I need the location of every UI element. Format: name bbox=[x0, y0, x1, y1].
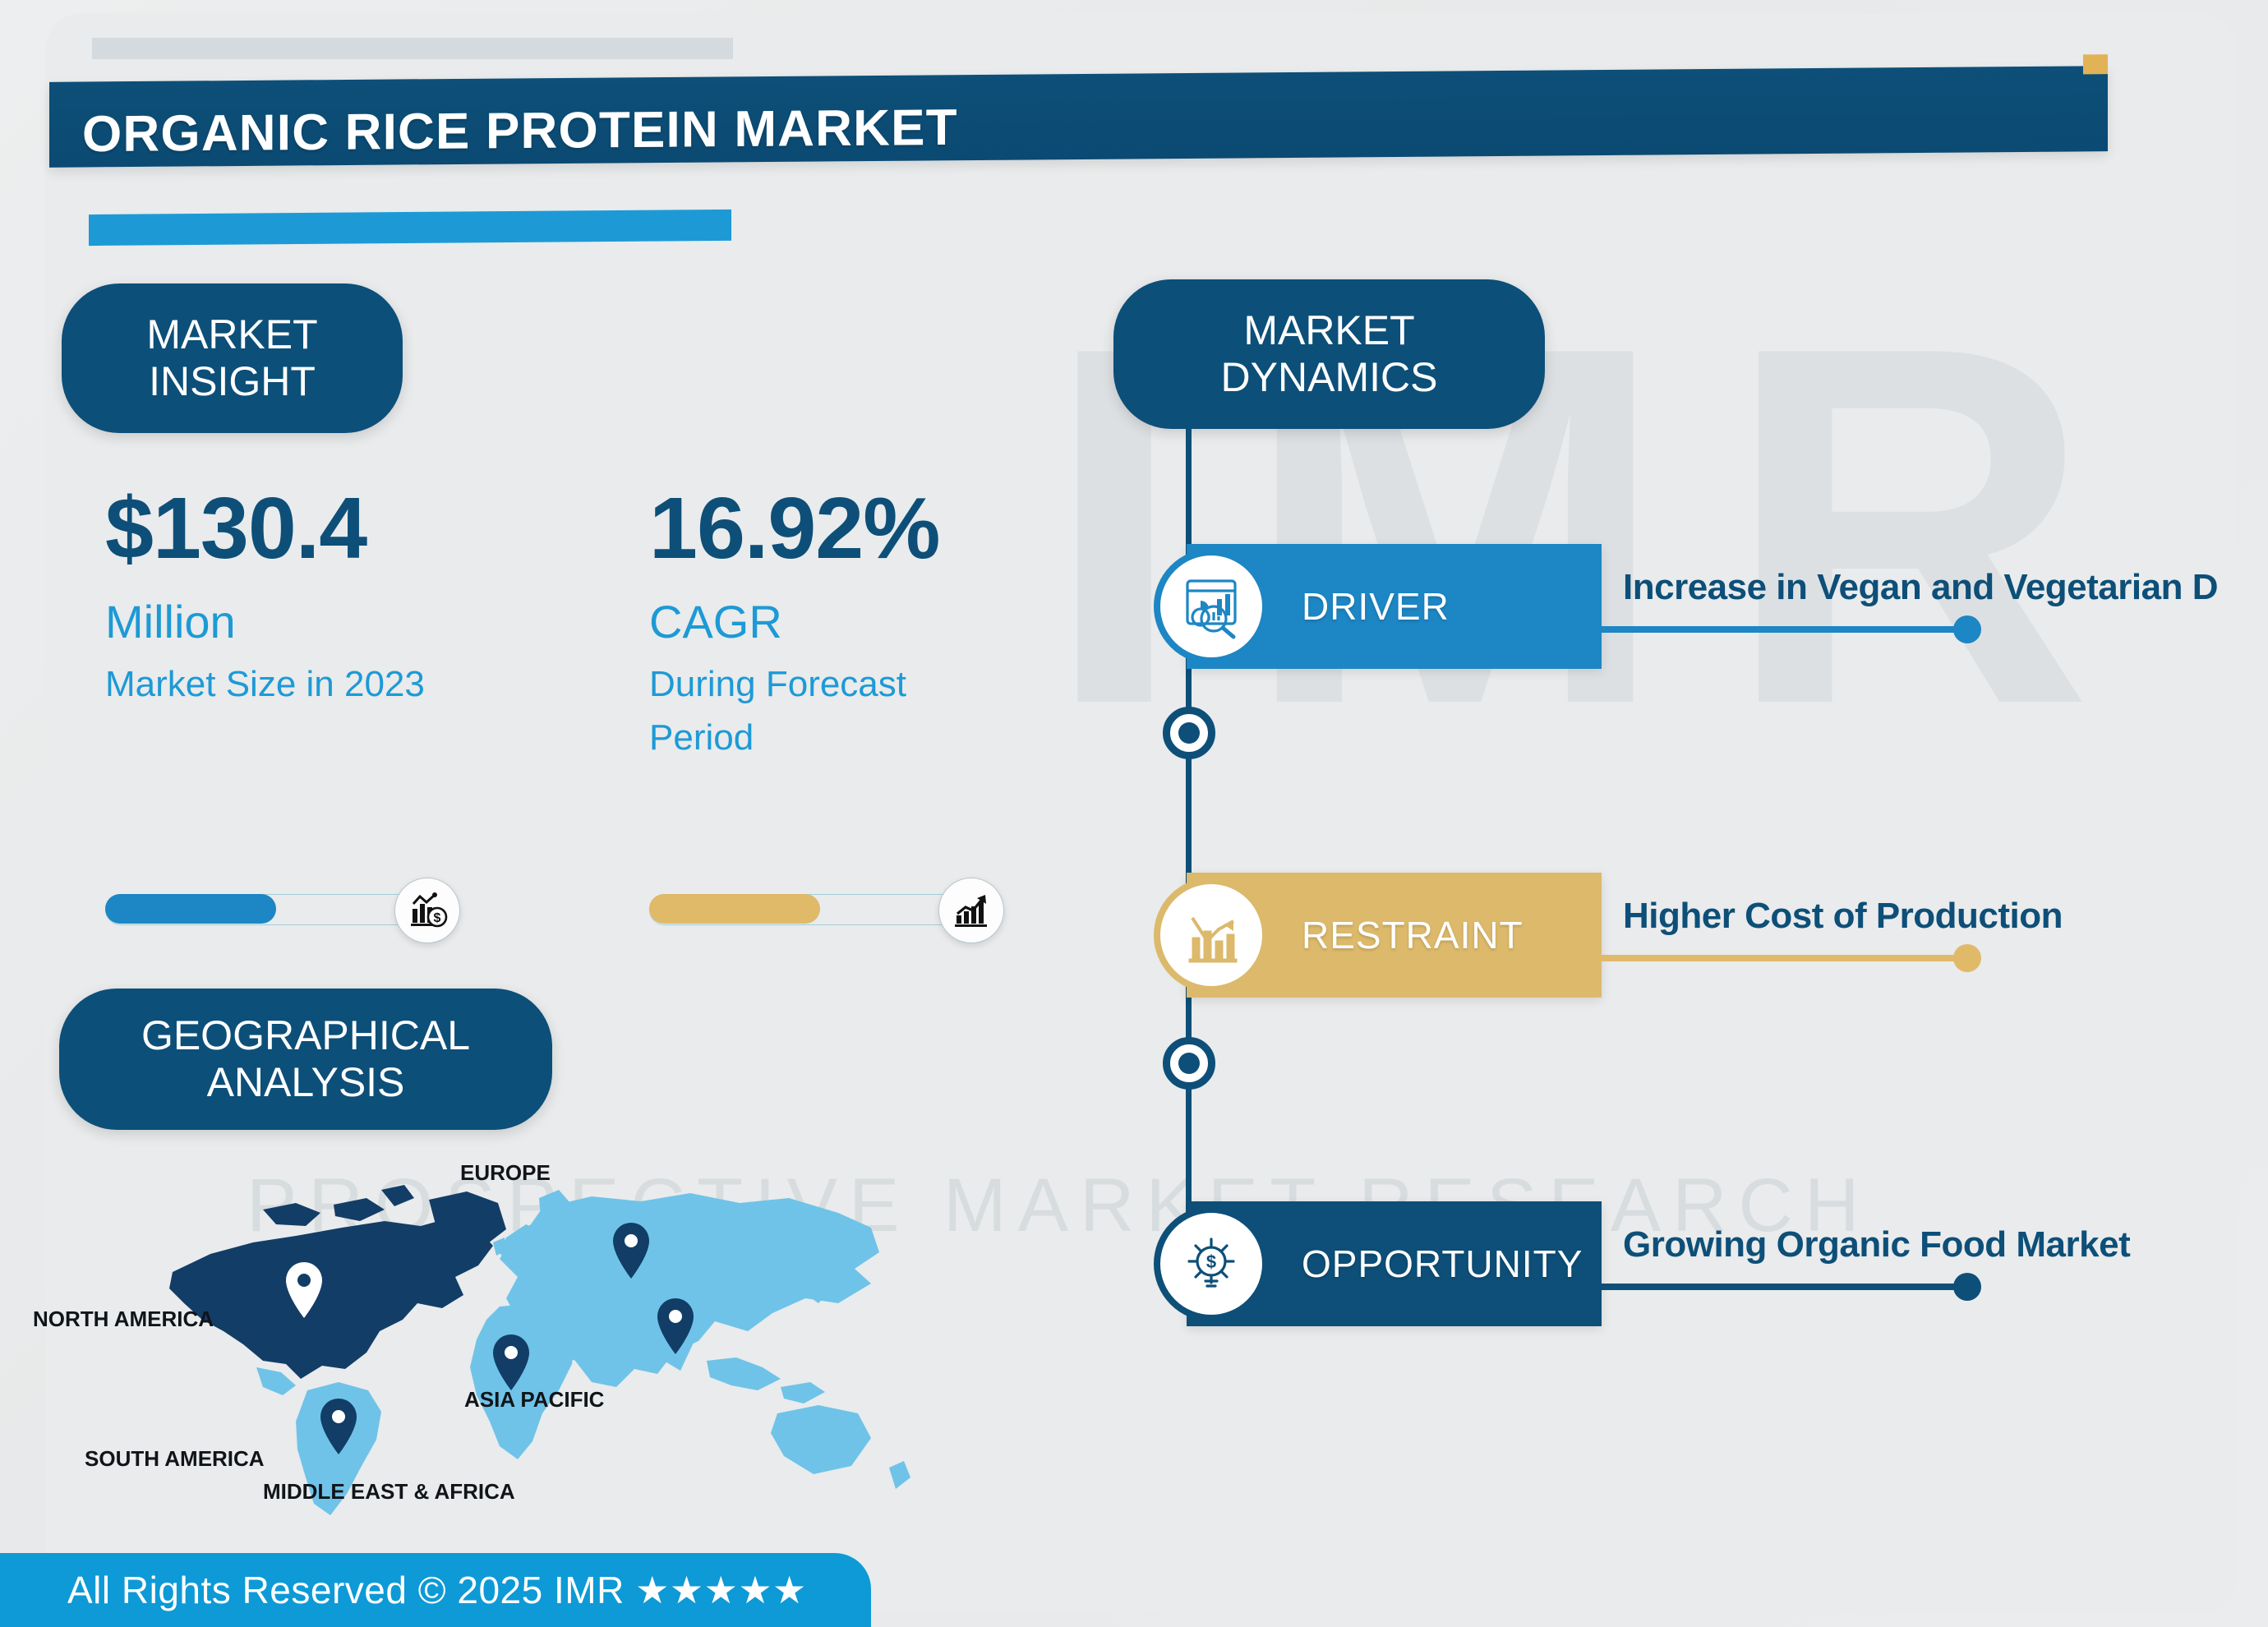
map-label-asia-pacific: ASIA PACIFIC bbox=[464, 1387, 604, 1413]
cagr-unit: CAGR bbox=[649, 595, 994, 649]
cagr-progress bbox=[649, 876, 1109, 950]
map-label-middle-east-africa: MIDDLE EAST & AFRICA bbox=[263, 1479, 515, 1505]
svg-text:$: $ bbox=[434, 911, 441, 925]
progress-fill bbox=[105, 894, 276, 924]
kpi-market-size: $130.4 Million Market Size in 2023 bbox=[105, 485, 450, 711]
dynamics-row-opportunity[interactable]: OPPORTUNITY $ bbox=[1154, 1201, 1602, 1326]
restraint-connector bbox=[1598, 955, 1976, 961]
driver-connector-dot bbox=[1953, 615, 1981, 643]
cagr-value: 16.92% bbox=[649, 485, 994, 572]
chart-magnifier-icon bbox=[1154, 549, 1269, 664]
market-size-unit: Million bbox=[105, 595, 450, 649]
progress-fill bbox=[649, 894, 820, 924]
dynamics-node-2 bbox=[1163, 1037, 1215, 1090]
map-label-europe: EUROPE bbox=[460, 1160, 551, 1186]
page-title: ORGANIC RICE PROTEIN MARKET bbox=[82, 99, 958, 164]
market-insight-pill-label: MARKET INSIGHT bbox=[146, 311, 317, 405]
svg-text:$: $ bbox=[1206, 1251, 1216, 1272]
declining-bar-chart-icon bbox=[1154, 878, 1269, 993]
title-corner-accent bbox=[2083, 54, 2108, 74]
opportunity-connector-dot bbox=[1953, 1273, 1981, 1301]
driver-connector bbox=[1598, 626, 1976, 633]
dynamics-node-1 bbox=[1163, 707, 1215, 759]
opportunity-text: Growing Organic Food Market bbox=[1623, 1224, 2130, 1265]
market-dynamics-pill: MARKET DYNAMICS bbox=[1113, 279, 1545, 429]
market-size-progress: $ bbox=[105, 876, 565, 950]
driver-label: DRIVER bbox=[1302, 584, 1450, 629]
restraint-text: Higher Cost of Production bbox=[1623, 896, 2063, 937]
market-size-description: Market Size in 2023 bbox=[105, 657, 450, 711]
market-insight-pill: MARKET INSIGHT bbox=[62, 283, 403, 433]
infographic-canvas: IMR PROSPECTIVE MARKET RESEARCH ORGANIC … bbox=[0, 0, 2268, 1627]
cagr-description: During Forecast Period bbox=[649, 657, 994, 764]
market-dynamics-pill-label: MARKET DYNAMICS bbox=[1221, 307, 1438, 401]
growth-arrow-icon bbox=[938, 878, 1004, 943]
map-label-south-america: SOUTH AMERICA bbox=[85, 1446, 265, 1472]
footer-text: All Rights Reserved © 2025 IMR ★★★★★ bbox=[67, 1568, 807, 1612]
title-accent-bar bbox=[89, 210, 731, 246]
restraint-connector-dot bbox=[1953, 944, 1981, 972]
geographical-analysis-pill-label: GEOGRAPHICAL ANALYSIS bbox=[141, 1012, 470, 1106]
opportunity-label: OPPORTUNITY bbox=[1302, 1242, 1583, 1286]
kpi-cagr: 16.92% CAGR During Forecast Period bbox=[649, 485, 994, 764]
geographical-analysis-pill: GEOGRAPHICAL ANALYSIS bbox=[59, 989, 552, 1130]
driver-text: Increase in Vegan and Vegetarian D bbox=[1623, 567, 2218, 608]
opportunity-connector bbox=[1598, 1284, 1976, 1290]
dynamics-row-driver[interactable]: DRIVER bbox=[1154, 544, 1602, 669]
footer-bar: All Rights Reserved © 2025 IMR ★★★★★ bbox=[0, 1553, 871, 1627]
restraint-label: RESTRAINT bbox=[1302, 913, 1524, 957]
map-label-north-america: NORTH AMERICA bbox=[33, 1307, 214, 1332]
world-map: NORTH AMERICA SOUTH AMERICA EUROPE MIDDL… bbox=[49, 1167, 986, 1520]
title-shadow-bar bbox=[92, 38, 733, 59]
dynamics-row-restraint[interactable]: RESTRAINT bbox=[1154, 873, 1602, 998]
bar-chart-dollar-icon: $ bbox=[394, 878, 460, 943]
market-size-value: $130.4 bbox=[105, 485, 450, 572]
lightbulb-dollar-icon: $ bbox=[1154, 1206, 1269, 1321]
